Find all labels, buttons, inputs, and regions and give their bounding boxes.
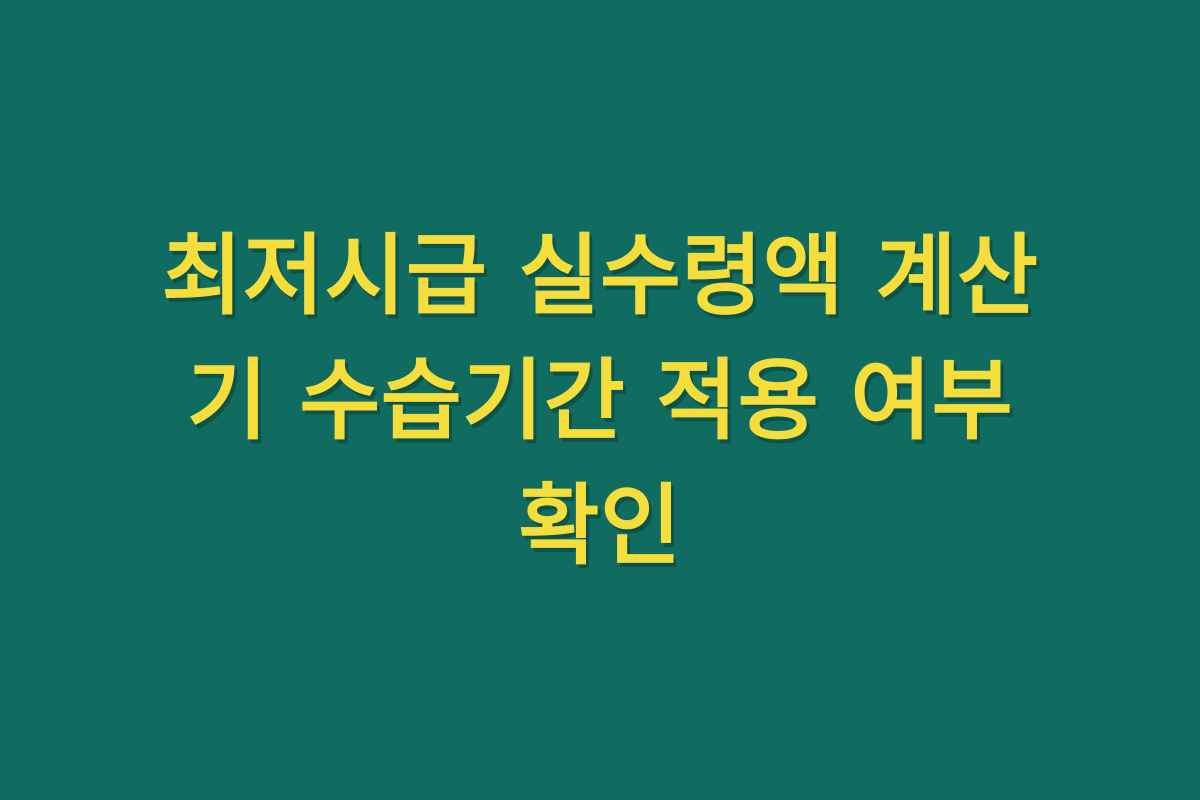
title-line-1: 최저시급 실수령액 계산 (100, 213, 1100, 338)
page-title: 최저시급 실수령액 계산 기 수습기간 적용 여부 확인 (90, 213, 1110, 588)
title-line-2: 기 수습기간 적용 여부 (100, 338, 1100, 463)
thumbnail-card: 최저시급 실수령액 계산 기 수습기간 적용 여부 확인 (0, 0, 1200, 800)
title-line-3: 확인 (100, 463, 1100, 588)
